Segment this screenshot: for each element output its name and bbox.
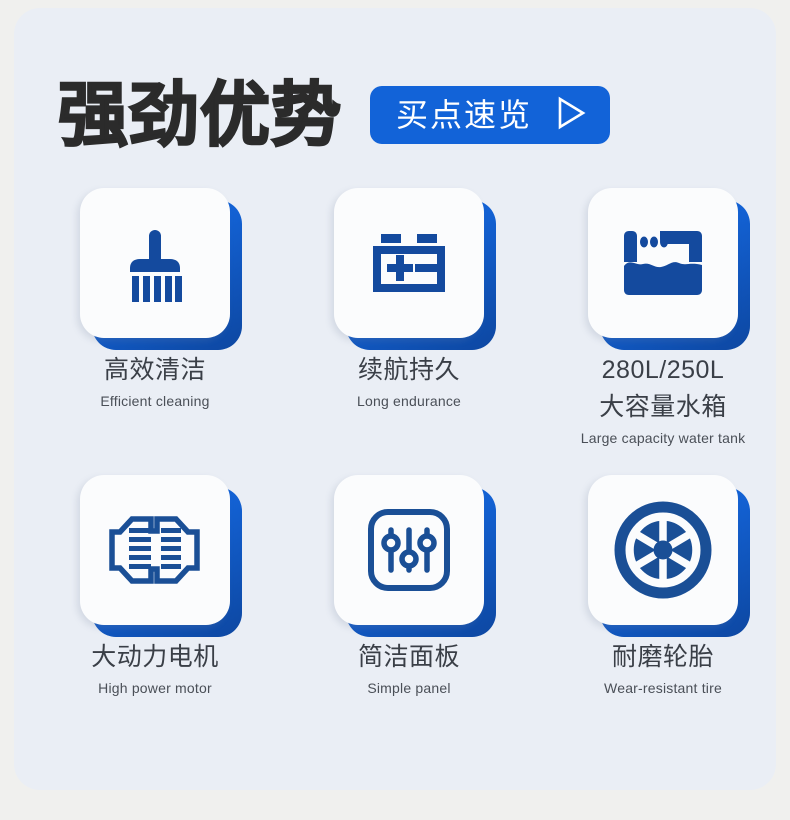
feature-subtitle: Simple panel xyxy=(282,678,536,699)
icon-card xyxy=(80,188,230,338)
feature-subtitle: Wear-resistant tire xyxy=(536,678,790,699)
page-title: 强劲优势 xyxy=(50,80,342,150)
feature-card-long-endurance[interactable]: 续航持久 Long endurance xyxy=(282,188,536,449)
feature-grid: 高效清洁 Efficient cleaning xyxy=(28,188,790,699)
card-face xyxy=(588,475,738,625)
icon-card xyxy=(334,475,484,625)
feature-labels: 耐磨轮胎 Wear-resistant tire xyxy=(536,639,790,699)
card-face xyxy=(334,475,484,625)
feature-title: 大动力电机 xyxy=(28,639,282,676)
card-face xyxy=(80,475,230,625)
quick-highlights-label: 买点速览 xyxy=(396,99,532,131)
feature-title: 简洁面板 xyxy=(282,639,536,676)
icon-card xyxy=(80,475,230,625)
icon-card xyxy=(588,188,738,338)
feature-labels: 高效清洁 Efficient cleaning xyxy=(28,352,282,412)
battery-icon xyxy=(368,222,450,304)
broom-icon xyxy=(114,222,196,304)
feature-labels: 大动力电机 High power motor xyxy=(28,639,282,699)
feature-title: 高效清洁 xyxy=(28,352,282,389)
promo-panel: 强劲优势 买点速览 xyxy=(14,8,776,790)
feature-card-simple-panel[interactable]: 简洁面板 Simple panel xyxy=(282,475,536,699)
feature-labels: 280L/250L 大容量水箱 Large capacity water tan… xyxy=(536,352,790,449)
feature-labels: 简洁面板 Simple panel xyxy=(282,639,536,699)
feature-card-wear-resistant-tire[interactable]: 耐磨轮胎 Wear-resistant tire xyxy=(536,475,790,699)
icon-card xyxy=(588,475,738,625)
card-face xyxy=(80,188,230,338)
feature-labels: 续航持久 Long endurance xyxy=(282,352,536,412)
motor-icon xyxy=(109,511,201,589)
feature-title-line1: 280L/250L xyxy=(536,352,790,389)
card-face xyxy=(334,188,484,338)
feature-title: 耐磨轮胎 xyxy=(536,639,790,676)
quick-highlights-button[interactable]: 买点速览 xyxy=(370,86,610,144)
feature-title-line2: 大容量水箱 xyxy=(536,389,790,426)
feature-card-water-tank[interactable]: 280L/250L 大容量水箱 Large capacity water tan… xyxy=(536,188,790,449)
card-face xyxy=(588,188,738,338)
feature-subtitle: High power motor xyxy=(28,678,282,699)
feature-subtitle: Large capacity water tank xyxy=(536,428,790,449)
feature-subtitle: Efficient cleaning xyxy=(28,391,282,412)
sliders-panel-icon xyxy=(367,508,451,592)
header: 强劲优势 买点速览 xyxy=(50,60,740,170)
feature-subtitle: Long endurance xyxy=(282,391,536,412)
water-tank-icon xyxy=(620,222,706,304)
feature-card-high-power-motor[interactable]: 大动力电机 High power motor xyxy=(28,475,282,699)
wheel-tire-icon xyxy=(614,501,712,599)
icon-card xyxy=(334,188,484,338)
feature-card-efficient-cleaning[interactable]: 高效清洁 Efficient cleaning xyxy=(28,188,282,449)
play-triangle-icon xyxy=(554,95,588,136)
feature-title: 续航持久 xyxy=(282,352,536,389)
